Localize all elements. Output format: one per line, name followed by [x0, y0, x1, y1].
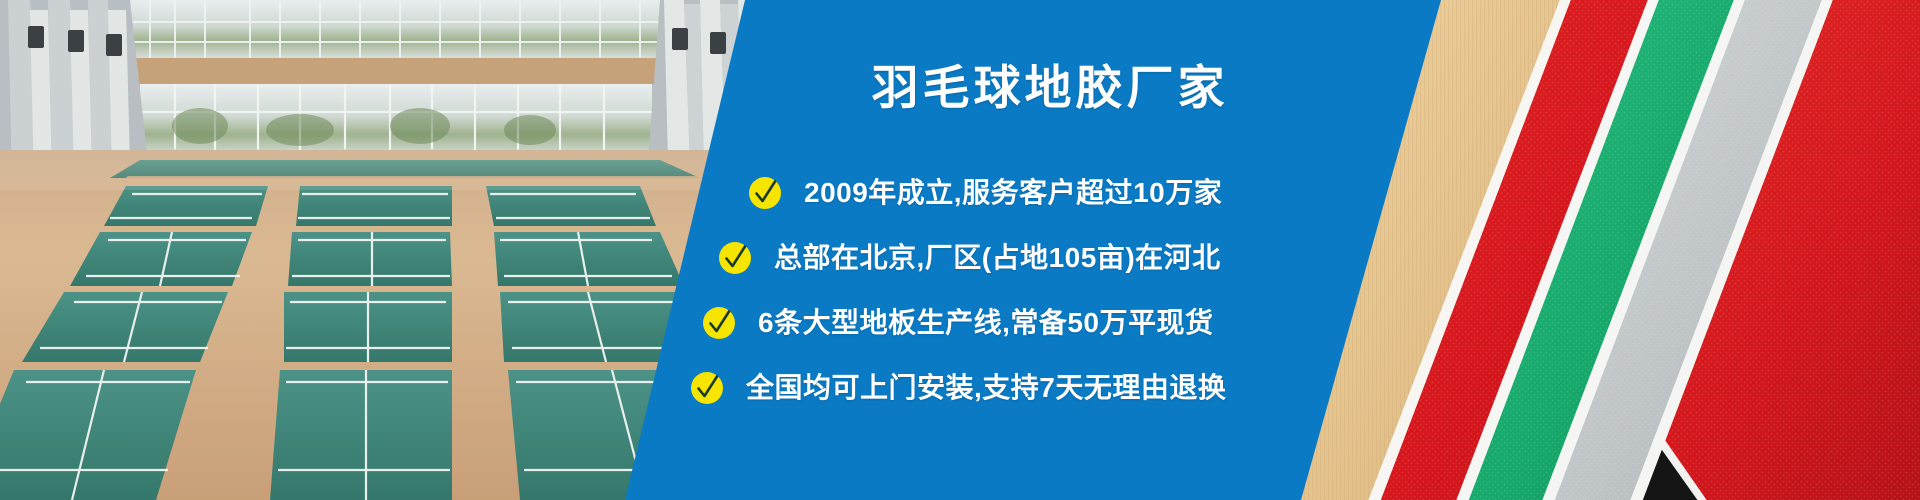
page-title: 羽毛球地胶厂家 [820, 62, 1280, 115]
feature-label: 6条大型地板生产线,常备50万平现货 [758, 309, 1214, 337]
check-circle-icon [702, 306, 736, 340]
feature-label: 2009年成立,服务客户超过10万家 [804, 179, 1222, 207]
check-circle-icon [748, 176, 782, 210]
feature-label: 总部在北京,厂区(占地105亩)在河北 [774, 244, 1221, 272]
check-circle-icon [690, 371, 724, 405]
feature-item-0: 2009年成立,服务客户超过10万家 [748, 176, 1222, 210]
promo-banner: 羽毛球地胶厂家 2009年成立,服务客户超过10万家 总部在北京,厂区(占地10… [0, 0, 1920, 500]
feature-label: 全国均可上门安装,支持7天无理由退换 [746, 374, 1226, 402]
check-circle-icon [718, 241, 752, 275]
feature-item-2: 6条大型地板生产线,常备50万平现货 [702, 306, 1214, 340]
banner-content: 羽毛球地胶厂家 2009年成立,服务客户超过10万家 总部在北京,厂区(占地10… [0, 0, 1920, 500]
feature-item-1: 总部在北京,厂区(占地105亩)在河北 [718, 241, 1221, 275]
feature-item-3: 全国均可上门安装,支持7天无理由退换 [690, 371, 1226, 405]
